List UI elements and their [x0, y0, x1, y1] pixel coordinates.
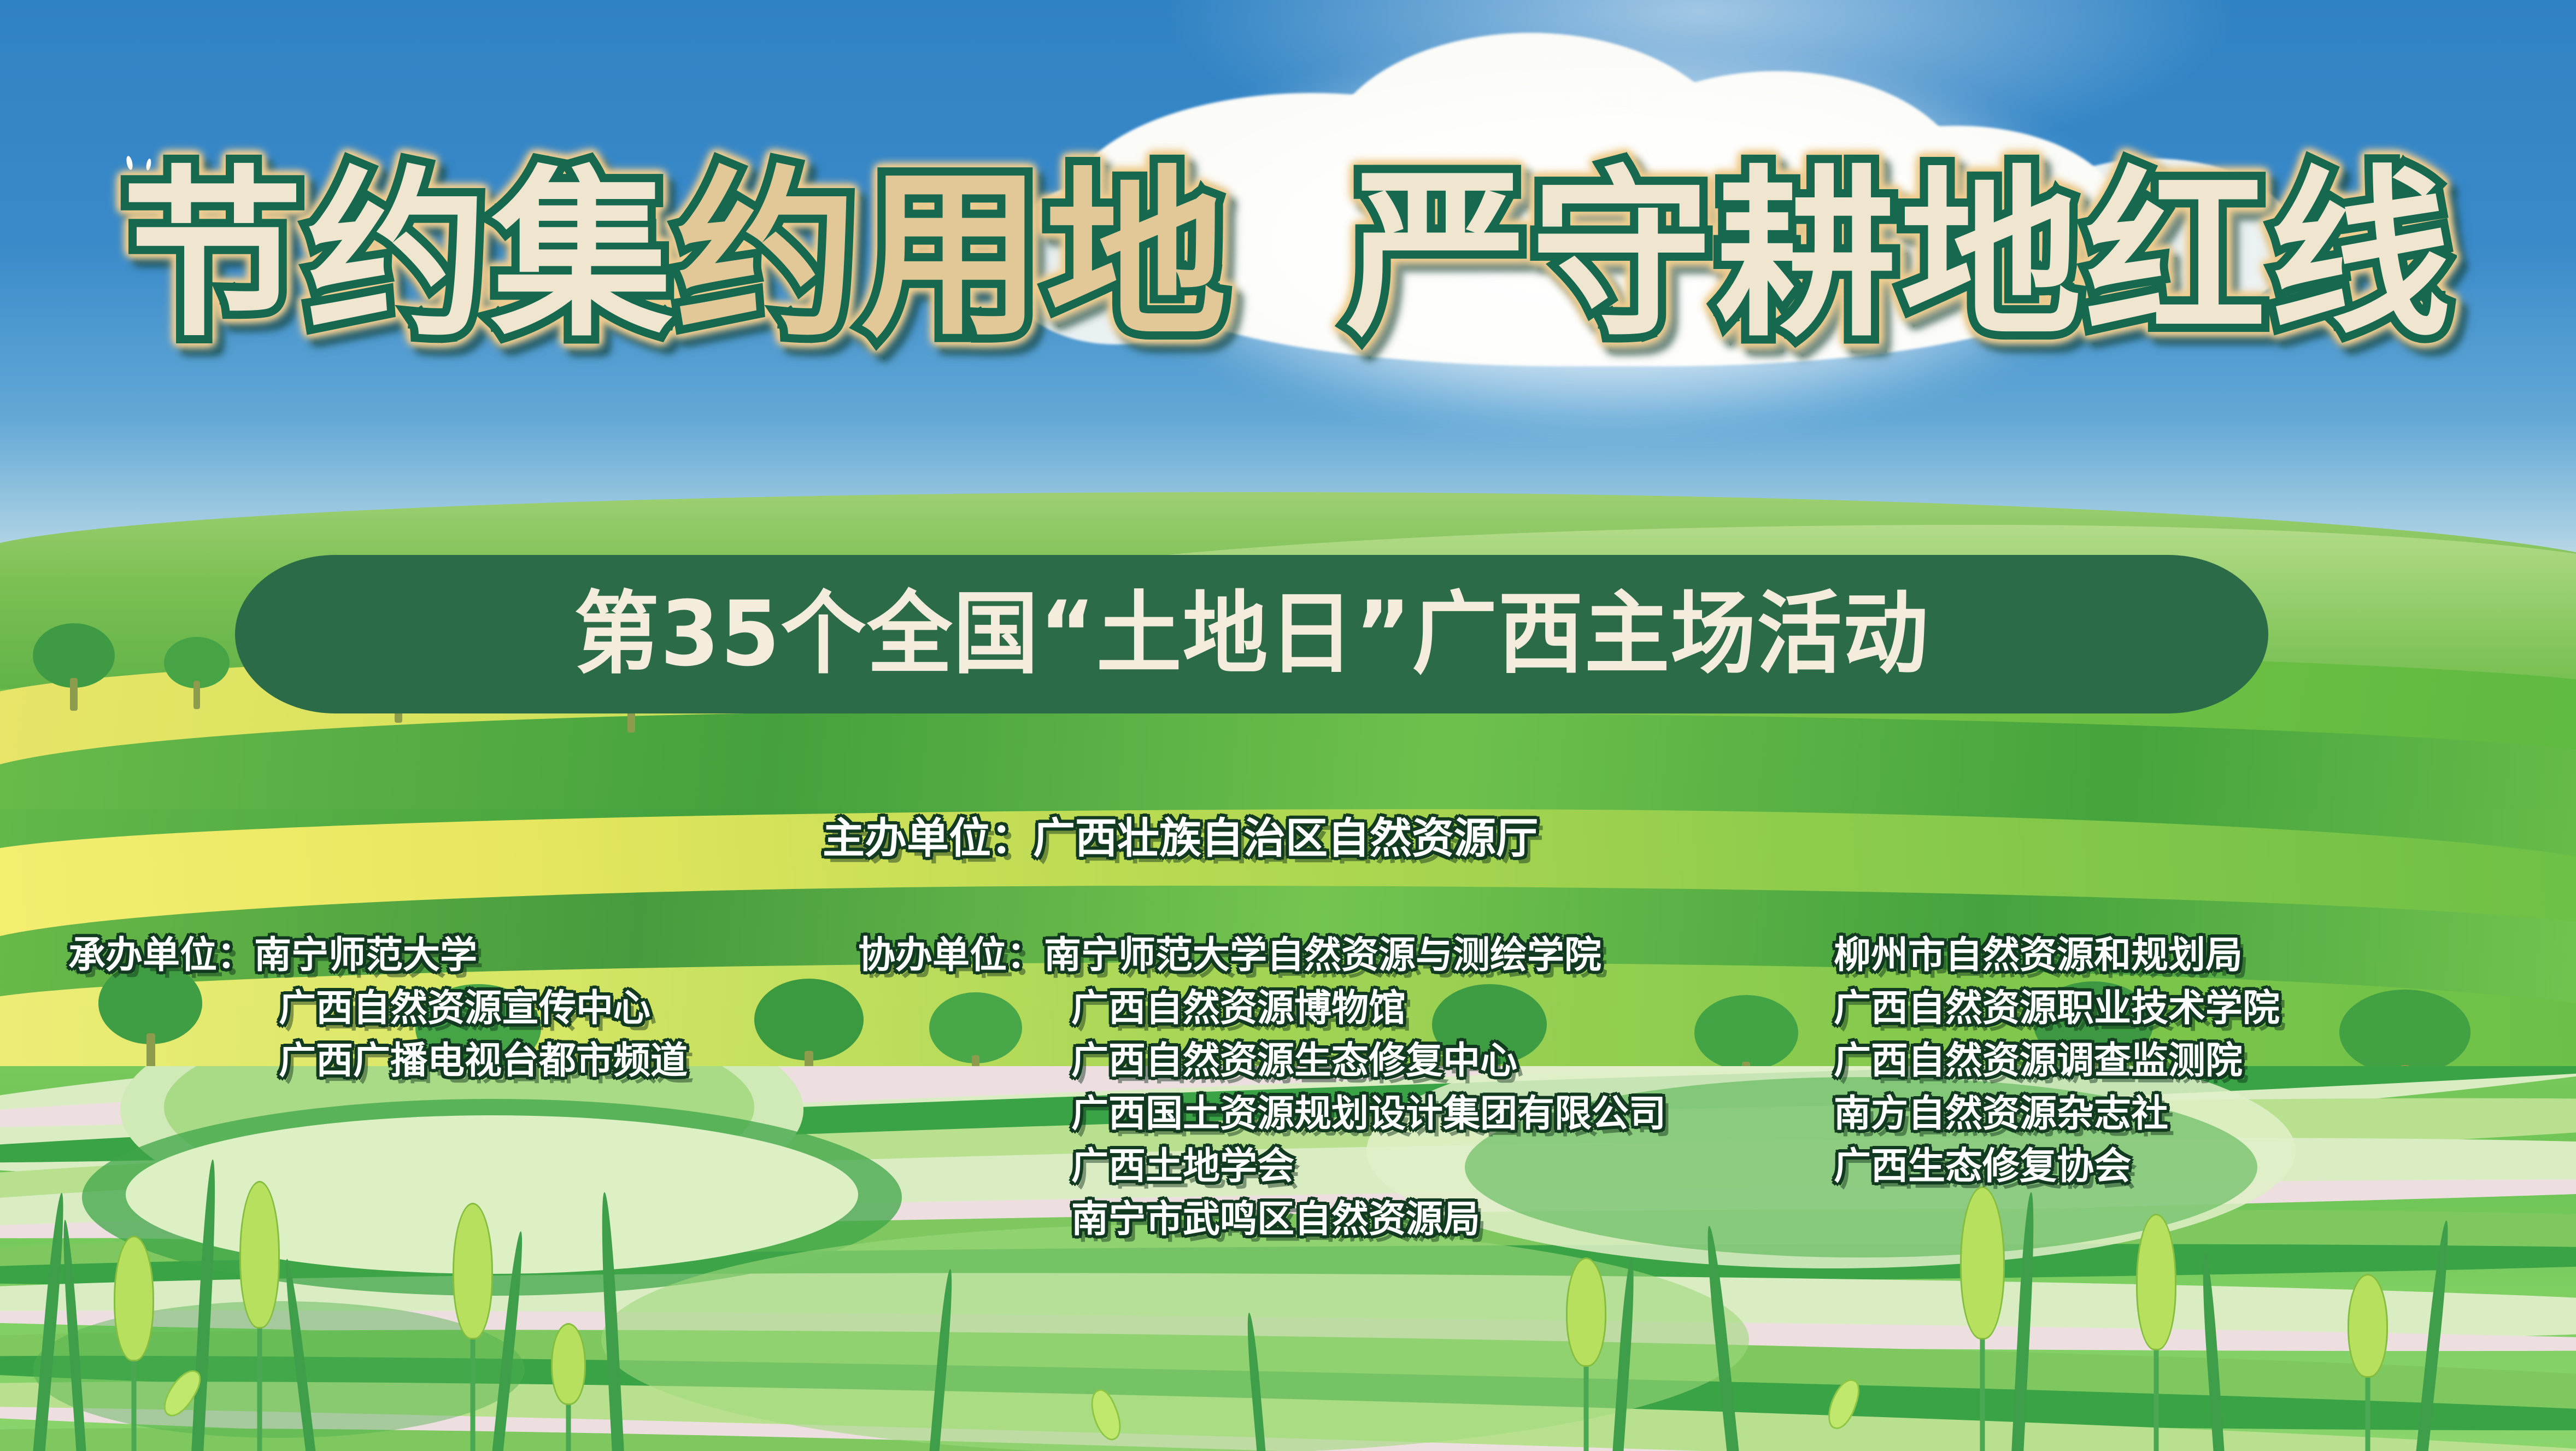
- wheat-stalk-icon: [448, 1203, 497, 1451]
- wheat-stalk-icon: [109, 1236, 159, 1451]
- host-organizer-line: 主办单位：广西壮族自治区自然资源厅: [823, 809, 1538, 869]
- organizer-middle-item: 广西自然资源生态修复中心: [858, 1035, 1666, 1088]
- organizer-column-right: 柳州市自然资源和规划局 广西自然资源职业技术学院 广西自然资源调查监测院 南方自…: [1834, 929, 2280, 1193]
- wheat-stalk-icon: [547, 1323, 590, 1451]
- organizer-column-middle: 协办单位：南宁师范大学自然资源与测绘学院 广西自然资源博物馆 广西自然资源生态修…: [858, 929, 1666, 1246]
- organizer-middle-item: 广西土地学会: [858, 1140, 1666, 1193]
- organizer-column-left: 承办单位：南宁师范大学 广西自然资源宣传中心 广西广播电视台都市频道: [68, 929, 688, 1088]
- organizer-left-item: 广西广播电视台都市频道: [68, 1035, 688, 1088]
- poster-canvas: 节约集约用地 严守耕地红线 第35个全国“土地日”广西主场活动 主办单位：广西壮…: [0, 0, 2576, 1451]
- organizer-middle-item: 广西自然资源博物馆: [858, 982, 1666, 1035]
- organizer-right-item: 南方自然资源杂志社: [1834, 1088, 2280, 1141]
- main-title: 节约集约用地 严守耕地红线: [0, 147, 2576, 365]
- wheat-stalk-icon: [2345, 1274, 2391, 1451]
- subtitle-text: 第35个全国“土地日”广西主场活动: [574, 589, 1929, 679]
- organizer-right-item: 广西自然资源职业技术学院: [1834, 982, 2280, 1035]
- organizer-left-label: 承办单位：南宁师范大学: [68, 929, 688, 982]
- organizer-right-item: 柳州市自然资源和规划局: [1834, 929, 2280, 982]
- organizer-middle-label: 协办单位：南宁师范大学自然资源与测绘学院: [858, 929, 1666, 982]
- main-title-part1: 节约集: [122, 150, 676, 361]
- wheat-stalk-icon: [2132, 1214, 2181, 1451]
- subtitle-banner: 第35个全国“土地日”广西主场活动: [235, 555, 2268, 713]
- wheat-stalk-icon: [235, 1181, 284, 1451]
- organizer-middle-item: 南宁市武鸣区自然资源局: [858, 1193, 1666, 1247]
- organizer-right-item: 广西自然资源调查监测院: [1834, 1035, 2280, 1088]
- wheat-stalk-icon: [1957, 1186, 2008, 1451]
- wheat-stalk-icon: [1563, 1257, 1609, 1451]
- main-title-part2: 约用地: [676, 150, 1230, 361]
- main-title-part3: 严守耕地红线: [1280, 150, 2455, 361]
- organizer-left-item: 广西自然资源宣传中心: [68, 982, 688, 1035]
- organizer-right-item: 广西生态修复协会: [1834, 1140, 2280, 1193]
- organizer-middle-item: 广西国土资源规划设计集团有限公司: [858, 1088, 1666, 1141]
